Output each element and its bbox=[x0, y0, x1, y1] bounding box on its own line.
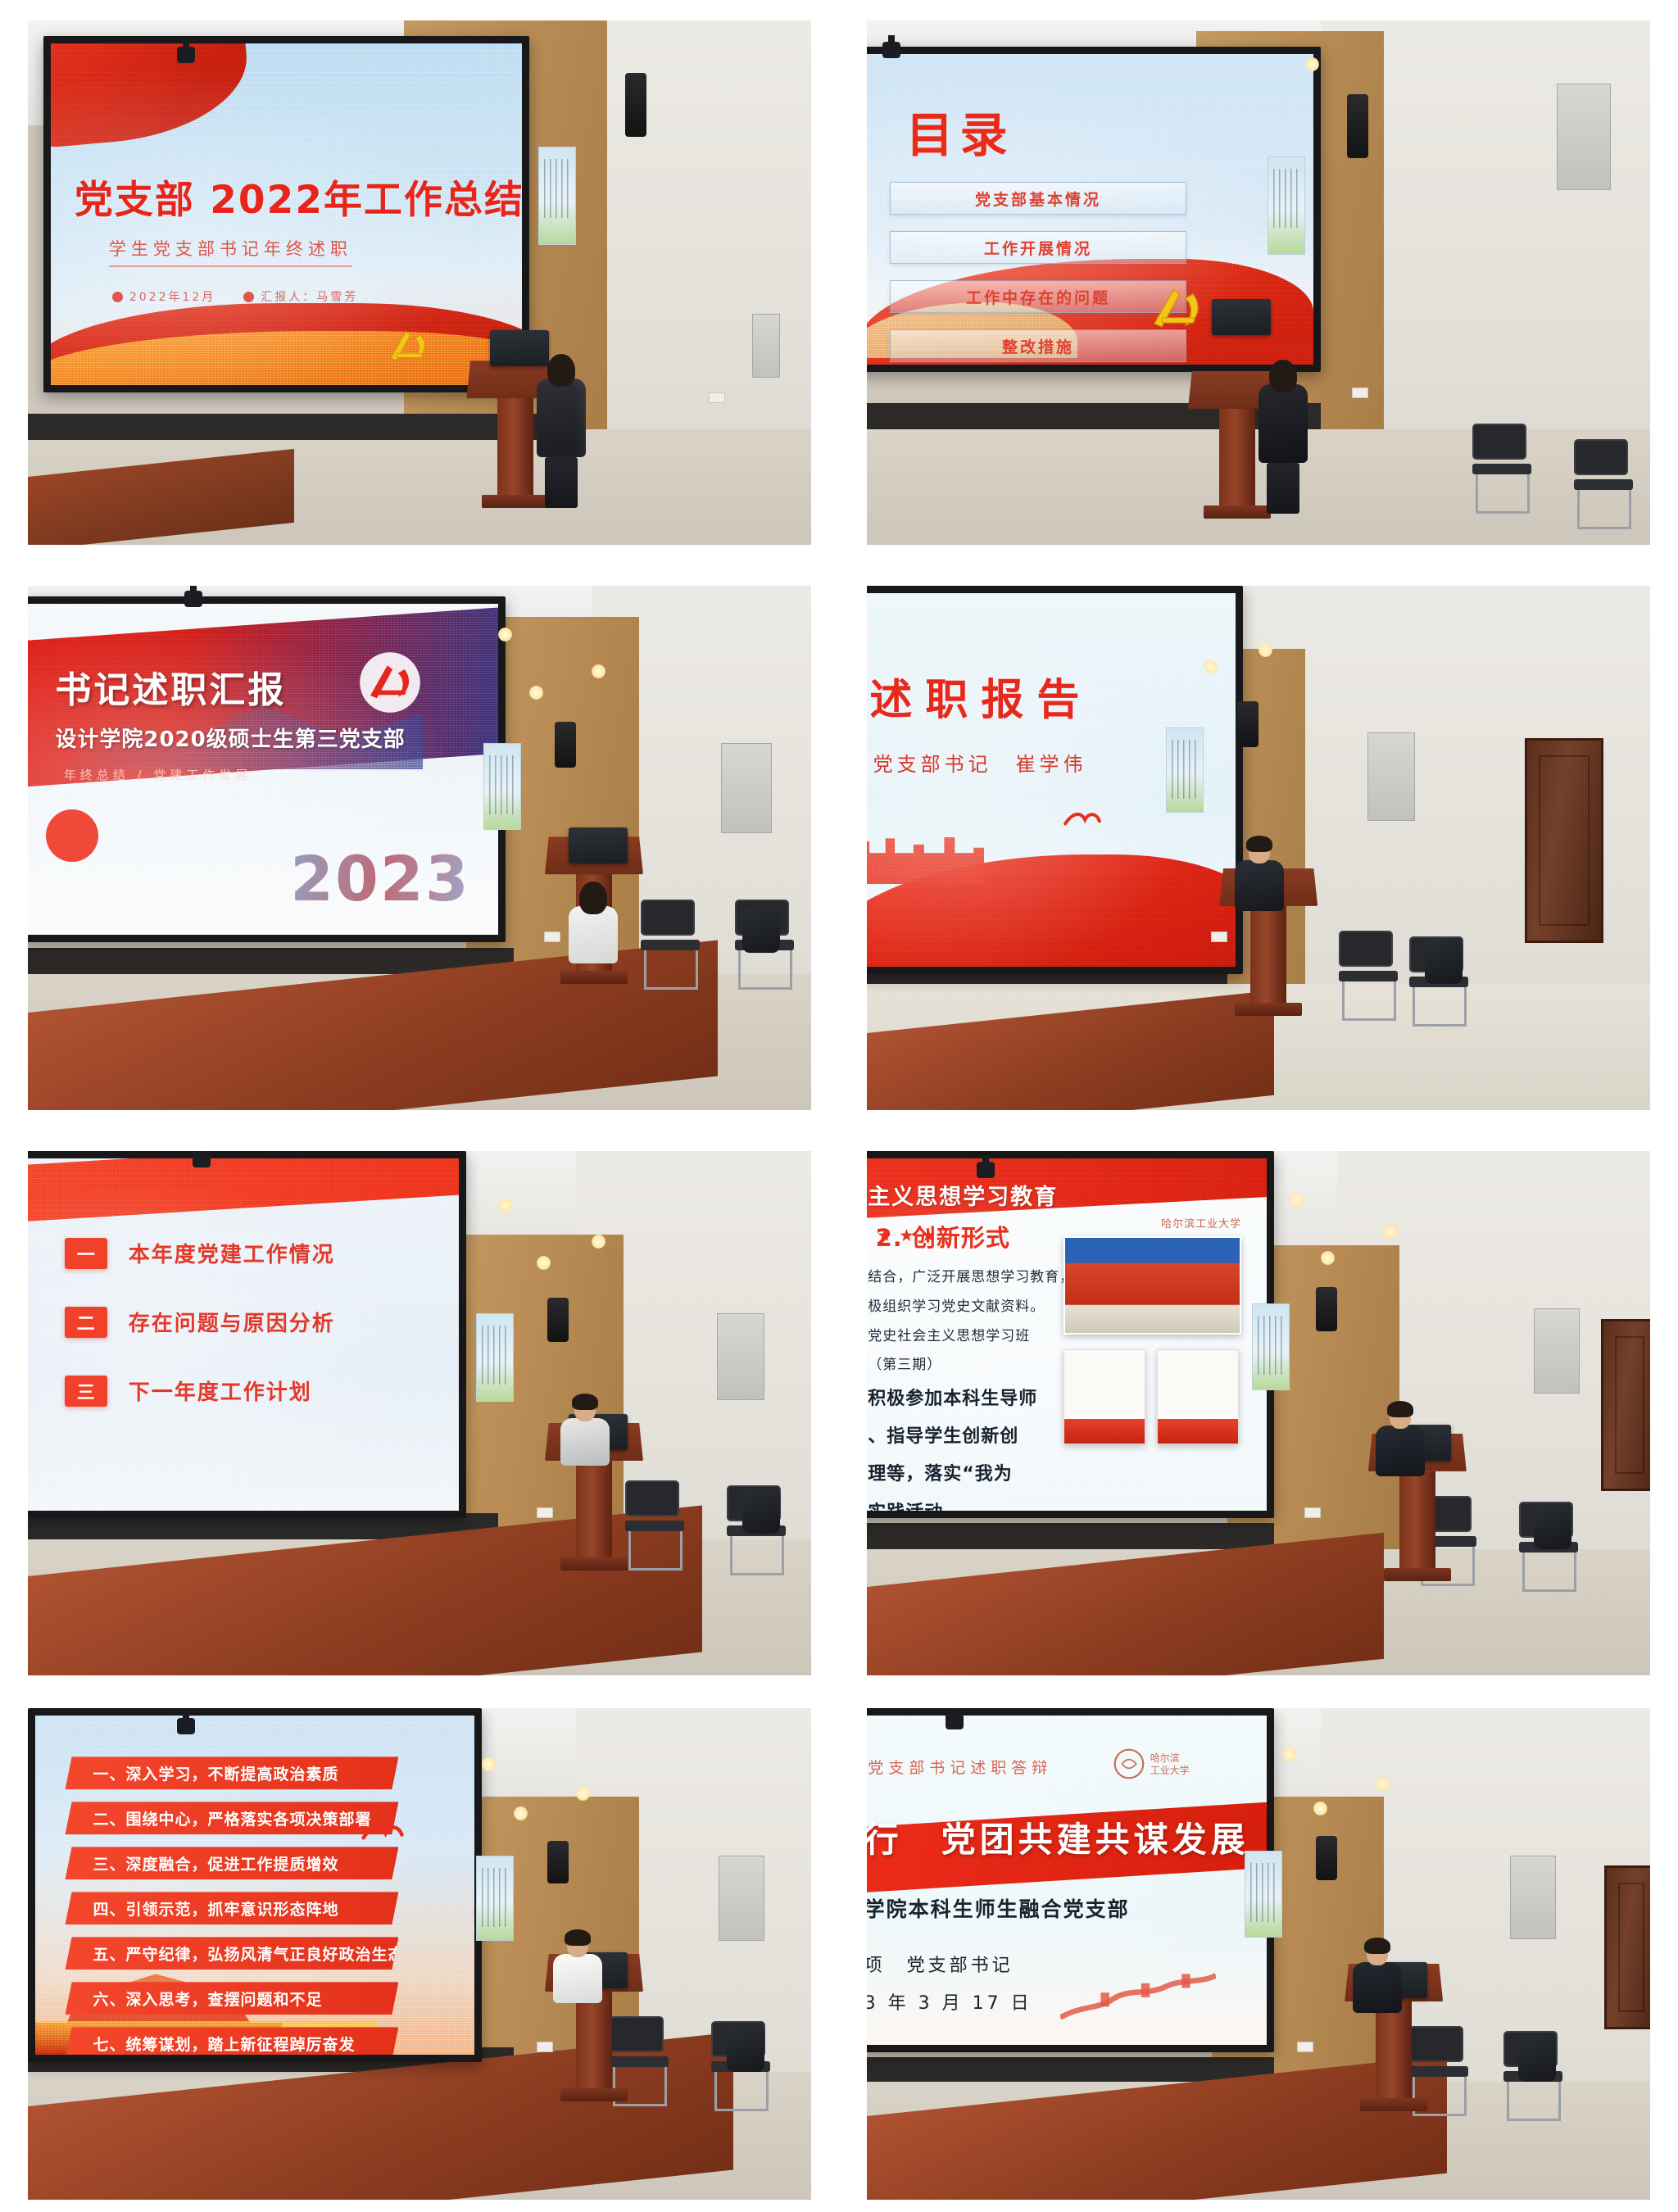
presenter-hair bbox=[579, 882, 607, 914]
agenda-text: 下一年度工作计划 bbox=[129, 1376, 312, 1406]
agenda-number: 一 bbox=[65, 1238, 107, 1269]
skyline-decoration bbox=[867, 832, 984, 885]
bullet-dot-icon bbox=[243, 292, 254, 302]
presenter-2 bbox=[1258, 363, 1308, 514]
photo-3: 书记述职汇报 设计学院2020级硕士生第三党支部 年终总结 / 党建工作发展 2… bbox=[28, 586, 811, 1110]
ceiling-camera-icon bbox=[184, 591, 202, 607]
slide-tagline: 年终总结 / 党建工作发展 bbox=[64, 766, 475, 783]
point-item: 五、严守纪律，弘扬风清气正良好政治生态 bbox=[65, 1937, 398, 1969]
point-item: 六、深入思考，查摆问题和不足 bbox=[65, 1982, 398, 2015]
laptop-2 bbox=[1212, 299, 1271, 335]
photo-cell-7: 一、深入学习，不断提高政治素质 二、围绕中心，严格落实各项决策部署 三、深度融合… bbox=[0, 1696, 839, 2212]
flag-decoration-top bbox=[51, 43, 253, 148]
toc-item: 党支部基本情况 bbox=[890, 182, 1187, 215]
star-icon: ★ bbox=[899, 1226, 914, 1245]
presenter-hair bbox=[1269, 360, 1297, 392]
slide-title-2023: 书记述职汇报 设计学院2020级硕士生第三党支部 年终总结 / 党建工作发展 2… bbox=[28, 604, 498, 935]
power-socket-icon bbox=[1352, 388, 1368, 398]
body-line: 结合，广泛开展思想学习教育， bbox=[868, 1263, 1082, 1293]
chair-legs bbox=[1476, 474, 1530, 514]
book-cover bbox=[1157, 1349, 1239, 1444]
agenda-number: 二 bbox=[65, 1307, 107, 1338]
photo-cell-6: 主义思想学习教育 2. 创新形式 ★ ★ ★ 哈尔滨工业大学 结合，广泛开展思想… bbox=[839, 1131, 1678, 1696]
podium-column bbox=[576, 1461, 612, 1557]
wall-poster bbox=[1245, 1851, 1282, 1938]
point-item: 一、深入学习，不断提高政治素质 bbox=[65, 1756, 398, 1789]
slide-seven-points: 一、深入学习，不断提高政治素质 二、围绕中心，严格落实各项决策部署 三、深度融合… bbox=[35, 1716, 474, 2055]
presenter-5 bbox=[560, 1397, 610, 1466]
presenter-1 bbox=[537, 357, 586, 508]
photo-8: 哈尔滨 工业大学 党支部书记述职答辩 行 党团共建共谋发展 学院本科生师生融合党… bbox=[867, 1708, 1650, 2200]
downlight-icon bbox=[498, 628, 512, 641]
bullet-dot-icon bbox=[112, 292, 123, 302]
slide-joint-build: 哈尔滨 工业大学 党支部书记述职答辩 行 党团共建共谋发展 学院本科生师生融合党… bbox=[867, 1716, 1267, 2045]
power-socket-icon bbox=[709, 392, 725, 403]
wall-poster bbox=[483, 743, 521, 830]
wall-speaker-icon bbox=[1347, 94, 1368, 158]
agenda-number: 三 bbox=[65, 1376, 107, 1407]
toc-item: 工作开展情况 bbox=[890, 231, 1187, 264]
wall-speaker-icon bbox=[625, 73, 646, 137]
body-line: 理等，落实“我为 bbox=[868, 1456, 1082, 1494]
room-door[interactable] bbox=[1604, 1865, 1650, 2029]
photo-cell-4: 述职报告 党支部书记 崔学伟 bbox=[839, 565, 1678, 1131]
chair-legs bbox=[730, 1536, 784, 1575]
bird-icon bbox=[1063, 805, 1102, 832]
slide-meta: 2022年12月 汇报人：马雪芳 bbox=[112, 288, 498, 305]
podium-base bbox=[560, 2088, 628, 2101]
chair-back bbox=[1339, 931, 1393, 967]
wall-poster bbox=[1166, 728, 1204, 813]
chair-legs bbox=[1507, 2082, 1561, 2121]
slide-header: 主义思想学习教育 bbox=[868, 1179, 1245, 1211]
slide-meta-right: 汇报人：马雪芳 bbox=[243, 288, 358, 305]
photo-cell-2: 目录 党支部基本情况 工作开展情况 工作中存在的问题 整改措施 bbox=[839, 0, 1678, 565]
ceiling-camera-icon bbox=[882, 42, 900, 58]
downlight-icon bbox=[514, 1806, 528, 1820]
chair-back bbox=[641, 900, 695, 936]
slide-presenter-line: 项 党支部书记 bbox=[867, 1951, 1245, 1977]
chair-back bbox=[1574, 439, 1628, 475]
star-icon: ★ bbox=[921, 1226, 937, 1245]
body-line: 极组织学习党史文献资料。 bbox=[868, 1293, 1082, 1322]
laptop-3 bbox=[569, 827, 628, 863]
backpack bbox=[742, 1488, 780, 1534]
baseboard bbox=[867, 2057, 1274, 2082]
party-emblem-icon bbox=[357, 650, 423, 715]
presenter-hair bbox=[565, 1929, 591, 1946]
baseboard bbox=[867, 1523, 1274, 1549]
conference-photo-thumb bbox=[1063, 1236, 1241, 1335]
slide-subtitle: 设计学院2020级硕士生第三党支部 bbox=[55, 723, 474, 753]
agenda-row: 二 存在问题与原因分析 bbox=[65, 1307, 438, 1338]
slide-subtitle: 学院本科生师生融合党支部 bbox=[867, 1893, 1245, 1923]
point-item: 二、围绕中心，严格落实各项决策部署 bbox=[65, 1802, 398, 1834]
presenter-hair bbox=[572, 1394, 598, 1410]
podium-column bbox=[1219, 409, 1255, 505]
podium-column bbox=[497, 398, 533, 495]
chair bbox=[1472, 424, 1533, 514]
chair bbox=[1574, 439, 1635, 529]
backpack bbox=[1425, 938, 1463, 984]
wall-poster bbox=[476, 1856, 514, 1941]
photo-6: 主义思想学习教育 2. 创新形式 ★ ★ ★ 哈尔滨工业大学 结合，广泛开展思想… bbox=[867, 1151, 1650, 1675]
wall-speaker-icon bbox=[1237, 701, 1258, 747]
led-screen-8: 哈尔滨 工业大学 党支部书记述职答辩 行 党团共建共谋发展 学院本科生师生融合党… bbox=[867, 1708, 1274, 2052]
slide-title: 述职报告 bbox=[869, 665, 1216, 727]
point-item: 七、统筹谋划，踏上新征程踔厉奋发 bbox=[65, 2027, 398, 2055]
backpack bbox=[1534, 1503, 1571, 1549]
chair-legs bbox=[714, 2072, 769, 2111]
room-door[interactable] bbox=[1525, 738, 1603, 943]
slide-meta-left: 2022年12月 bbox=[112, 288, 215, 305]
presenter-hair bbox=[547, 354, 575, 387]
presenter-body bbox=[1235, 860, 1284, 911]
party-emblem-icon bbox=[379, 318, 437, 375]
electrical-panel bbox=[717, 1313, 764, 1400]
body-line: 、指导学生创新创 bbox=[868, 1418, 1082, 1456]
star-decoration: ★ ★ ★ bbox=[877, 1226, 936, 1245]
photo-1: 党支部 2022年工作总结 学生党支部书记年终述职 2022年12月 汇报人：马… bbox=[28, 20, 811, 545]
power-socket-icon bbox=[1304, 1507, 1321, 1518]
star-icon: ★ bbox=[877, 1226, 892, 1245]
chair-legs bbox=[738, 950, 792, 990]
photo-5: 一 本年度党建工作情况 二 存在问题与原因分析 三 下一年度工作计划 bbox=[28, 1151, 811, 1675]
ceiling-camera-icon bbox=[946, 1713, 964, 1729]
wall-poster bbox=[1268, 156, 1305, 255]
electrical-panel bbox=[1510, 1856, 1556, 1939]
downlight-icon bbox=[1282, 1747, 1296, 1761]
svg-text:工业大学: 工业大学 bbox=[1150, 1765, 1190, 1776]
agenda-list: 一 本年度党建工作情况 二 存在问题与原因分析 三 下一年度工作计划 bbox=[65, 1238, 438, 1444]
presenter-hair bbox=[1246, 836, 1272, 852]
downlight-icon bbox=[529, 686, 543, 700]
agenda-text: 本年度党建工作情况 bbox=[129, 1238, 335, 1268]
wall-speaker-icon bbox=[547, 1841, 569, 1883]
slide-presenter-line: 党支部书记 崔学伟 bbox=[873, 748, 1216, 777]
wall-speaker-icon bbox=[1316, 1287, 1337, 1331]
chair-seat bbox=[1339, 971, 1398, 981]
points-list: 一、深入学习，不断提高政治素质 二、围绕中心，严格落实各项决策部署 三、深度融合… bbox=[65, 1756, 452, 2055]
slide-title: 行 党团共建共谋发展 bbox=[867, 1812, 1245, 1862]
podium-column bbox=[1250, 906, 1286, 1003]
podium-column bbox=[576, 1992, 612, 2088]
presenter-body bbox=[569, 906, 618, 963]
chair-legs bbox=[1522, 1552, 1576, 1592]
party-emblem-icon bbox=[1140, 272, 1213, 346]
agenda-row: 一 本年度党建工作情况 bbox=[65, 1238, 438, 1269]
chair-seat bbox=[1574, 479, 1633, 490]
downlight-icon bbox=[1313, 1802, 1327, 1815]
wall-speaker-icon bbox=[555, 722, 576, 768]
led-screen-7: 一、深入学习，不断提高政治素质 二、围绕中心，严格落实各项决策部署 三、深度融合… bbox=[28, 1708, 482, 2062]
toc-list: 党支部基本情况 工作开展情况 工作中存在的问题 整改措施 bbox=[890, 182, 1291, 365]
chair bbox=[641, 900, 701, 990]
electrical-panel bbox=[1534, 1308, 1580, 1394]
slide-date-line: 3 年 3 月 17 日 bbox=[867, 1988, 1245, 2015]
point-item: 三、深度融合，促进工作提质增效 bbox=[65, 1847, 398, 1879]
led-screen-1: 党支部 2022年工作总结 学生党支部书记年终述职 2022年12月 汇报人：马… bbox=[43, 36, 529, 392]
electrical-panel bbox=[719, 1856, 764, 1941]
ceiling-camera-icon bbox=[977, 1162, 995, 1178]
chair-seat bbox=[641, 940, 700, 950]
electrical-panel bbox=[1557, 84, 1611, 190]
book-thumbs bbox=[1063, 1349, 1241, 1444]
presenter-body bbox=[1258, 384, 1308, 463]
wall-poster bbox=[1252, 1303, 1290, 1390]
book-cover bbox=[1063, 1349, 1145, 1444]
wall-speaker-icon bbox=[547, 1298, 569, 1342]
photo-cell-8: 哈尔滨 工业大学 党支部书记述职答辩 行 党团共建共谋发展 学院本科生师生融合党… bbox=[839, 1696, 1678, 2212]
presenter-head bbox=[574, 1397, 596, 1421]
body-line: 积极参加本科生导师 bbox=[868, 1380, 1082, 1418]
wall-speaker-icon bbox=[1316, 1836, 1337, 1880]
presenter-4 bbox=[1235, 839, 1284, 911]
chair-legs bbox=[1413, 987, 1467, 1027]
room-door[interactable] bbox=[1601, 1319, 1650, 1491]
podium-base bbox=[1384, 1568, 1451, 1581]
downlight-icon bbox=[1384, 1225, 1398, 1239]
body-line: 党史社会主义思想学习班 bbox=[868, 1322, 1082, 1352]
podium-base bbox=[560, 971, 628, 984]
svg-text:哈尔滨: 哈尔滨 bbox=[1150, 1752, 1180, 1764]
bird-icon bbox=[361, 1817, 405, 1847]
podium-base bbox=[1360, 2098, 1427, 2111]
presenter-8 bbox=[1353, 1941, 1402, 2013]
presenter-head bbox=[583, 885, 604, 909]
presenter-head bbox=[1367, 1941, 1388, 1965]
chair-seat bbox=[1472, 464, 1531, 474]
electrical-panel bbox=[721, 743, 772, 833]
presenter-body bbox=[1376, 1426, 1425, 1476]
presenter-7 bbox=[553, 1933, 602, 2003]
podium-base bbox=[560, 1557, 628, 1571]
agenda-row: 三 下一年度工作计划 bbox=[65, 1376, 438, 1407]
electrical-panel bbox=[1367, 732, 1415, 821]
photo-4: 述职报告 党支部书记 崔学伟 bbox=[867, 586, 1650, 1110]
slide-images bbox=[1063, 1236, 1241, 1444]
chair-legs bbox=[644, 950, 698, 990]
presenter-body bbox=[537, 378, 586, 457]
presenter-body bbox=[560, 1418, 610, 1466]
presenter-head bbox=[1249, 839, 1270, 863]
presenter-head bbox=[1272, 363, 1294, 388]
photo-2: 目录 党支部基本情况 工作开展情况 工作中存在的问题 整改措施 bbox=[867, 20, 1650, 545]
led-screen-5: 一 本年度党建工作情况 二 存在问题与原因分析 三 下一年度工作计划 bbox=[28, 1151, 466, 1518]
presenter-head bbox=[551, 357, 572, 382]
chair bbox=[1339, 931, 1399, 1021]
power-socket-icon bbox=[1297, 2042, 1313, 2052]
ceiling-camera-icon bbox=[193, 1151, 211, 1167]
photo-grid: 党支部 2022年工作总结 学生党支部书记年终述职 2022年12月 汇报人：马… bbox=[0, 0, 1678, 2212]
chair-back bbox=[1472, 424, 1526, 460]
body-line: 实践活动。 bbox=[868, 1494, 1082, 1511]
university-logo: 哈尔滨工业大学 bbox=[1161, 1215, 1241, 1231]
presenter-head bbox=[567, 1933, 588, 1957]
slide-subtitle: 学生党支部书记年终述职 bbox=[109, 236, 352, 267]
presenter-body bbox=[1353, 1962, 1402, 2013]
presenter-hair bbox=[1364, 1938, 1390, 1954]
ceiling-camera-icon bbox=[177, 1718, 195, 1734]
presenter-6 bbox=[1376, 1404, 1425, 1476]
led-screen-3: 书记述职汇报 设计学院2020级硕士生第三党支部 年终总结 / 党建工作发展 2… bbox=[28, 596, 506, 942]
downlight-icon bbox=[498, 1199, 512, 1213]
photo-7: 一、深入学习，不断提高政治素质 二、围绕中心，严格落实各项决策部署 三、深度融合… bbox=[28, 1708, 811, 2200]
presenter-hair bbox=[1387, 1401, 1413, 1417]
slide-content: 主义思想学习教育 2. 创新形式 ★ ★ ★ 哈尔滨工业大学 结合，广泛开展思想… bbox=[867, 1158, 1267, 1511]
photo-cell-5: 一 本年度党建工作情况 二 存在问题与原因分析 三 下一年度工作计划 bbox=[0, 1131, 839, 1696]
red-header-band bbox=[28, 1158, 459, 1222]
backpack bbox=[742, 907, 780, 953]
body-line: （第三期） bbox=[868, 1351, 1082, 1380]
presenter-body bbox=[553, 1954, 602, 2003]
chair-legs bbox=[1577, 490, 1631, 529]
slide-agenda: 一 本年度党建工作情况 二 存在问题与原因分析 三 下一年度工作计划 bbox=[28, 1158, 459, 1511]
electrical-panel bbox=[752, 314, 780, 378]
sun-decoration bbox=[46, 809, 98, 862]
slide-title-2022: 党支部 2022年工作总结 学生党支部书记年终述职 2022年12月 汇报人：马… bbox=[51, 43, 522, 385]
podium-column bbox=[1399, 1471, 1435, 1568]
photo-cell-1: 党支部 2022年工作总结 学生党支部书记年终述职 2022年12月 汇报人：马… bbox=[0, 0, 839, 565]
slide-title: 党支部 2022年工作总结 bbox=[75, 168, 498, 224]
backpack bbox=[1518, 2036, 1556, 2082]
podium-column bbox=[1376, 2001, 1412, 2098]
photo-cell-3: 书记述职汇报 设计学院2020级硕士生第三党支部 年终总结 / 党建工作发展 2… bbox=[0, 565, 839, 1131]
slide-year: 2023 bbox=[290, 842, 470, 915]
presenter-legs bbox=[1267, 463, 1299, 514]
slide-body: 结合，广泛开展思想学习教育， 极组织学习党史文献资料。 党史社会主义思想学习班 … bbox=[868, 1263, 1082, 1511]
ceiling-camera-icon bbox=[177, 47, 195, 63]
university-seal-icon: 哈尔滨 工业大学 bbox=[1109, 1742, 1216, 1786]
toc-heading: 目录 bbox=[906, 97, 1291, 165]
presenter-legs bbox=[545, 457, 578, 508]
point-item: 四、引领示范，抓牢意识形态阵地 bbox=[65, 1892, 398, 1924]
podium-base bbox=[1235, 1003, 1302, 1016]
downlight-icon bbox=[1321, 1251, 1335, 1265]
backpack bbox=[727, 2026, 764, 2072]
agenda-text: 存在问题与原因分析 bbox=[129, 1307, 335, 1337]
presenter-head bbox=[1390, 1404, 1411, 1429]
chair-legs bbox=[1342, 981, 1396, 1021]
presenter-3 bbox=[569, 885, 618, 963]
led-screen-6: 主义思想学习教育 2. 创新形式 ★ ★ ★ 哈尔滨工业大学 结合，广泛开展思想… bbox=[867, 1151, 1274, 1518]
wall-poster bbox=[476, 1313, 514, 1402]
wall-poster bbox=[538, 147, 576, 245]
